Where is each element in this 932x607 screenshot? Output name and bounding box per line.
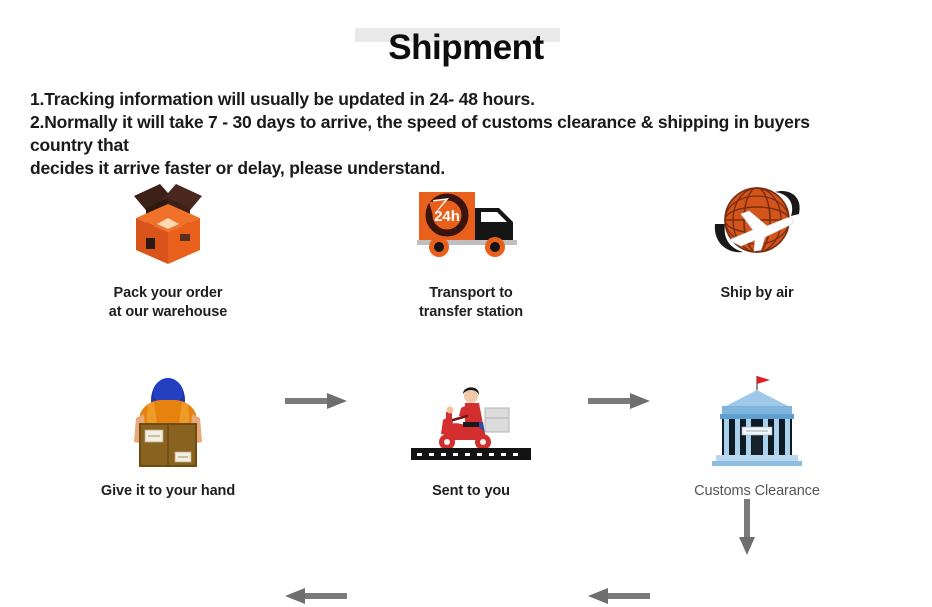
step-ship-by-air: Ship by air bbox=[642, 172, 872, 303]
step-pack-caption: Pack your order at our warehouse bbox=[53, 284, 283, 322]
arrow-pack-to-transport-icon bbox=[285, 390, 347, 412]
intro-line-2: 2.Normally it will take 7 - 30 days to a… bbox=[30, 111, 875, 157]
delivery-truck-icon: 24h bbox=[356, 172, 586, 272]
caption-line-1: Transport to bbox=[356, 284, 586, 303]
caption-line-2: at our warehouse bbox=[53, 303, 283, 322]
step-delivered-caption: Give it to your hand bbox=[53, 482, 283, 501]
step-transport-caption: Transport to transfer station bbox=[356, 284, 586, 322]
shipment-flow-diagram: Pack your order at our warehouse 24h bbox=[0, 172, 932, 532]
step-air-caption: Ship by air bbox=[642, 284, 872, 303]
arrow-transport-to-air-icon bbox=[588, 390, 650, 412]
step-transport-to-transfer-station: 24h Transport to transfer station bbox=[356, 172, 586, 322]
caption-line-1: Pack your order bbox=[53, 284, 283, 303]
step-customs-clearance: Customs Clearance bbox=[642, 370, 872, 501]
caption-line-1: Give it to your hand bbox=[53, 482, 283, 501]
caption-line-1: Sent to you bbox=[356, 482, 586, 501]
scooter-courier-icon bbox=[356, 370, 586, 470]
step-sent-to-you: Sent to you bbox=[356, 370, 586, 501]
truck-24h-badge-text: 24h bbox=[434, 208, 460, 225]
page-title: Shipment bbox=[388, 28, 543, 67]
open-box-icon bbox=[53, 172, 283, 272]
intro-line-1: 1.Tracking information will usually be u… bbox=[30, 88, 875, 111]
caption-line-1: Ship by air bbox=[642, 284, 872, 303]
delivery-person-icon bbox=[53, 370, 283, 470]
step-pack-your-order: Pack your order at our warehouse bbox=[53, 172, 283, 322]
step-sent-caption: Sent to you bbox=[356, 482, 586, 501]
page-title-wrapper: Shipment bbox=[0, 26, 932, 72]
arrow-customs-to-sent-icon bbox=[588, 585, 650, 607]
arrow-air-to-customs-icon bbox=[736, 499, 758, 555]
intro-paragraph: 1.Tracking information will usually be u… bbox=[30, 88, 875, 180]
customs-building-icon bbox=[642, 370, 872, 470]
globe-airplane-icon bbox=[642, 172, 872, 272]
arrow-sent-to-delivered-icon bbox=[285, 585, 347, 607]
caption-line-2: transfer station bbox=[356, 303, 586, 322]
step-give-to-your-hand: Give it to your hand bbox=[53, 370, 283, 501]
